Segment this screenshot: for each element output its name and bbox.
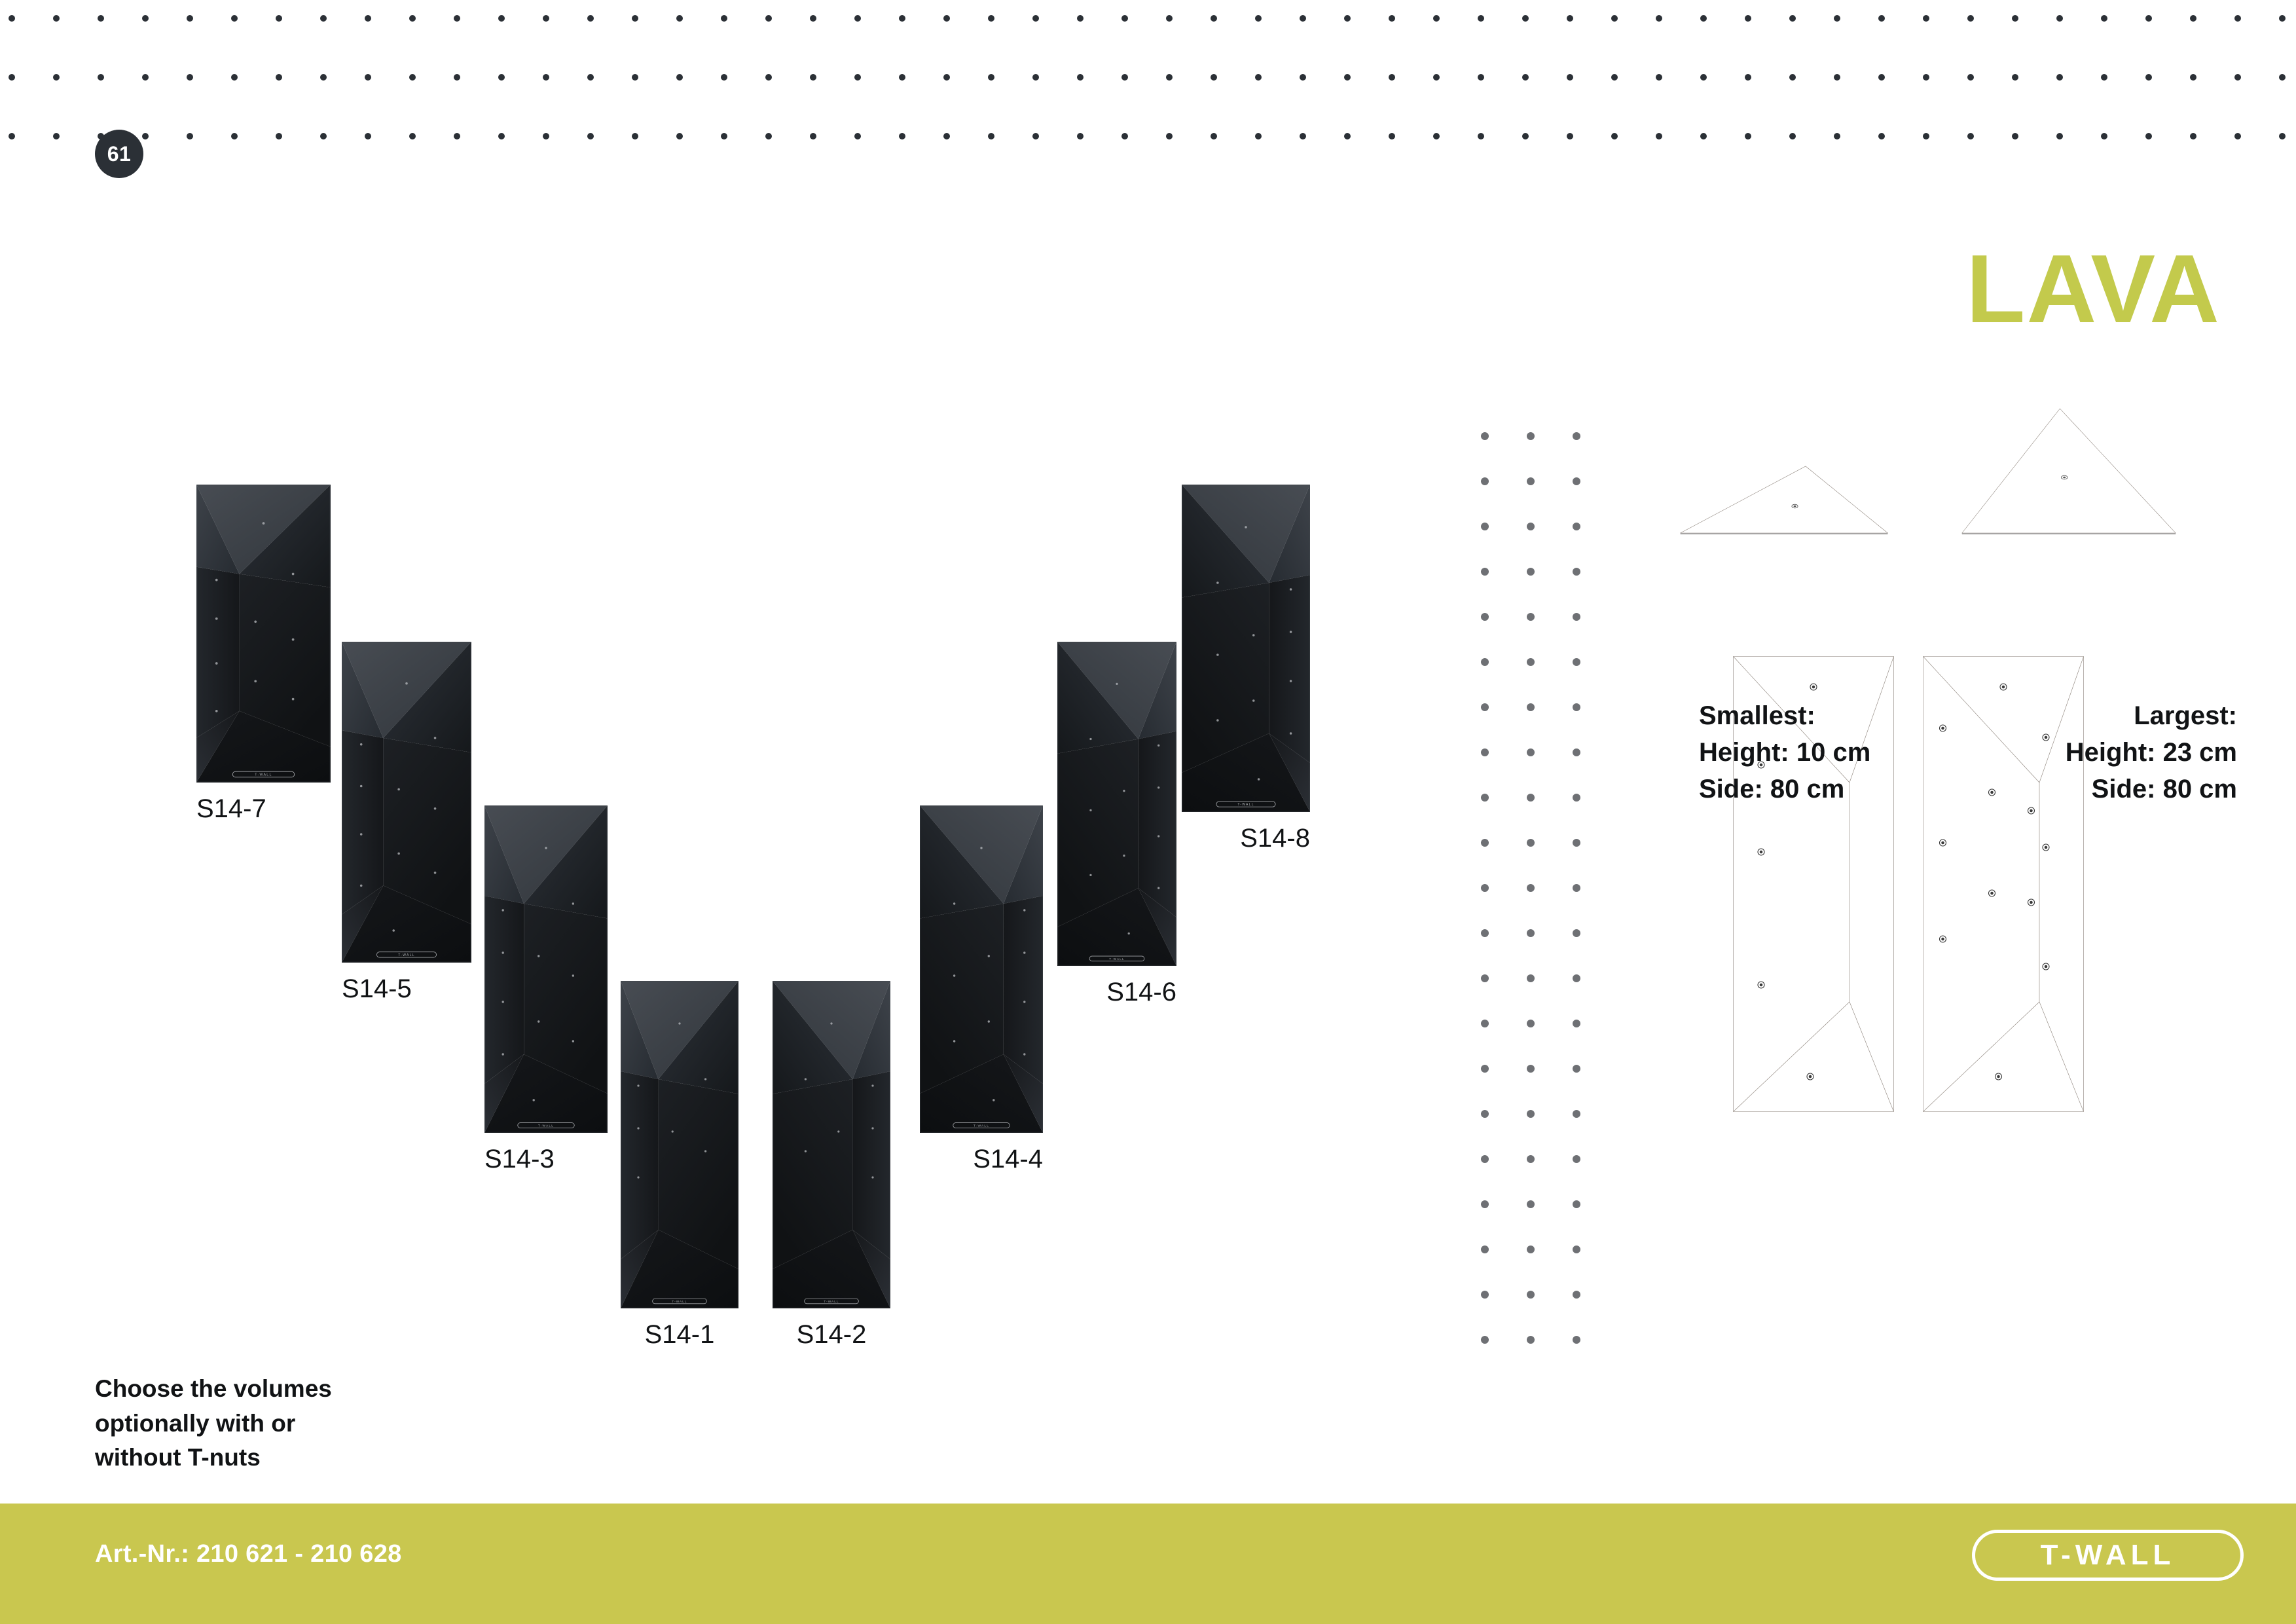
product-volume-s14-4: T-WALLS14-4 bbox=[920, 805, 1043, 1133]
volume-image-s14-3: T-WALL bbox=[484, 805, 608, 1133]
volumes-note-line: without T-nuts bbox=[95, 1441, 332, 1475]
largest-profile bbox=[1958, 406, 2180, 537]
middle-dot-grid bbox=[1480, 432, 1624, 1382]
technical-drawings-panel bbox=[1663, 406, 2239, 1388]
product-gallery: T-WALLS14-7T-WALLS14-5T-WALLS14-3T-WALLS… bbox=[0, 0, 1473, 1500]
svg-text:T-WALL: T-WALL bbox=[255, 773, 272, 777]
svg-text:T-WALL: T-WALL bbox=[1109, 957, 1124, 961]
product-volume-s14-5: T-WALLS14-5 bbox=[342, 642, 471, 963]
svg-text:T-WALL: T-WALL bbox=[538, 1124, 554, 1128]
volume-label: S14-7 bbox=[196, 794, 266, 824]
volume-label: S14-8 bbox=[1240, 824, 1310, 853]
page-title: LAVA bbox=[1966, 241, 2221, 338]
t-wall-logo: T-WALL bbox=[1972, 1530, 2244, 1581]
product-volume-s14-3: T-WALLS14-3 bbox=[484, 805, 608, 1133]
product-volume-s14-7: T-WALLS14-7 bbox=[196, 485, 331, 783]
footer-bar: Art.-Nr.: 210 621 - 210 628 T-WALL bbox=[0, 1504, 2296, 1624]
volume-image-s14-2: T-WALL bbox=[773, 981, 890, 1308]
smallest-profile bbox=[1676, 406, 1892, 537]
largest-side: Side: 80 cm bbox=[2066, 771, 2237, 807]
smallest-side: Side: 80 cm bbox=[1699, 771, 1870, 807]
volume-image-s14-6: T-WALL bbox=[1057, 642, 1176, 966]
volume-image-s14-4: T-WALL bbox=[920, 805, 1043, 1133]
volume-image-s14-5: T-WALL bbox=[342, 642, 471, 963]
product-volume-s14-1: T-WALLS14-1 bbox=[621, 981, 738, 1308]
largest-dimensions: Largest: Height: 23 cm Side: 80 cm bbox=[2066, 697, 2237, 807]
svg-text:T-WALL: T-WALL bbox=[672, 1300, 687, 1303]
largest-heading: Largest: bbox=[2066, 697, 2237, 734]
volume-label: S14-4 bbox=[973, 1145, 1043, 1174]
svg-text:T-WALL: T-WALL bbox=[1237, 803, 1254, 807]
volume-label: S14-5 bbox=[342, 974, 412, 1004]
svg-text:T-WALL: T-WALL bbox=[398, 953, 414, 957]
product-volume-s14-6: T-WALLS14-6 bbox=[1057, 642, 1176, 966]
volume-label: S14-1 bbox=[645, 1320, 715, 1350]
smallest-dimensions: Smallest: Height: 10 cm Side: 80 cm bbox=[1699, 697, 1870, 807]
volumes-note-line: optionally with or bbox=[95, 1407, 332, 1441]
svg-text:T-WALL: T-WALL bbox=[824, 1300, 839, 1303]
product-volume-s14-8: T-WALLS14-8 bbox=[1182, 485, 1310, 812]
volume-image-s14-8: T-WALL bbox=[1182, 485, 1310, 812]
volume-label: S14-3 bbox=[484, 1145, 555, 1174]
volumes-note-line: Choose the volumes bbox=[95, 1372, 332, 1407]
volume-label: S14-6 bbox=[1106, 978, 1176, 1007]
article-number: Art.-Nr.: 210 621 - 210 628 bbox=[95, 1540, 402, 1568]
svg-text:T-WALL: T-WALL bbox=[974, 1124, 989, 1128]
volume-image-s14-1: T-WALL bbox=[621, 981, 738, 1308]
smallest-height: Height: 10 cm bbox=[1699, 734, 1870, 771]
largest-height: Height: 23 cm bbox=[2066, 734, 2237, 771]
product-volume-s14-2: T-WALLS14-2 bbox=[773, 981, 890, 1308]
volume-label: S14-2 bbox=[797, 1320, 867, 1350]
volumes-note: Choose the volumesoptionally with orwith… bbox=[95, 1372, 332, 1475]
volume-image-s14-7: T-WALL bbox=[196, 485, 331, 783]
plan-right bbox=[1922, 655, 2085, 1113]
t-wall-logo-text: T-WALL bbox=[2041, 1539, 2176, 1572]
smallest-heading: Smallest: bbox=[1699, 697, 1870, 734]
